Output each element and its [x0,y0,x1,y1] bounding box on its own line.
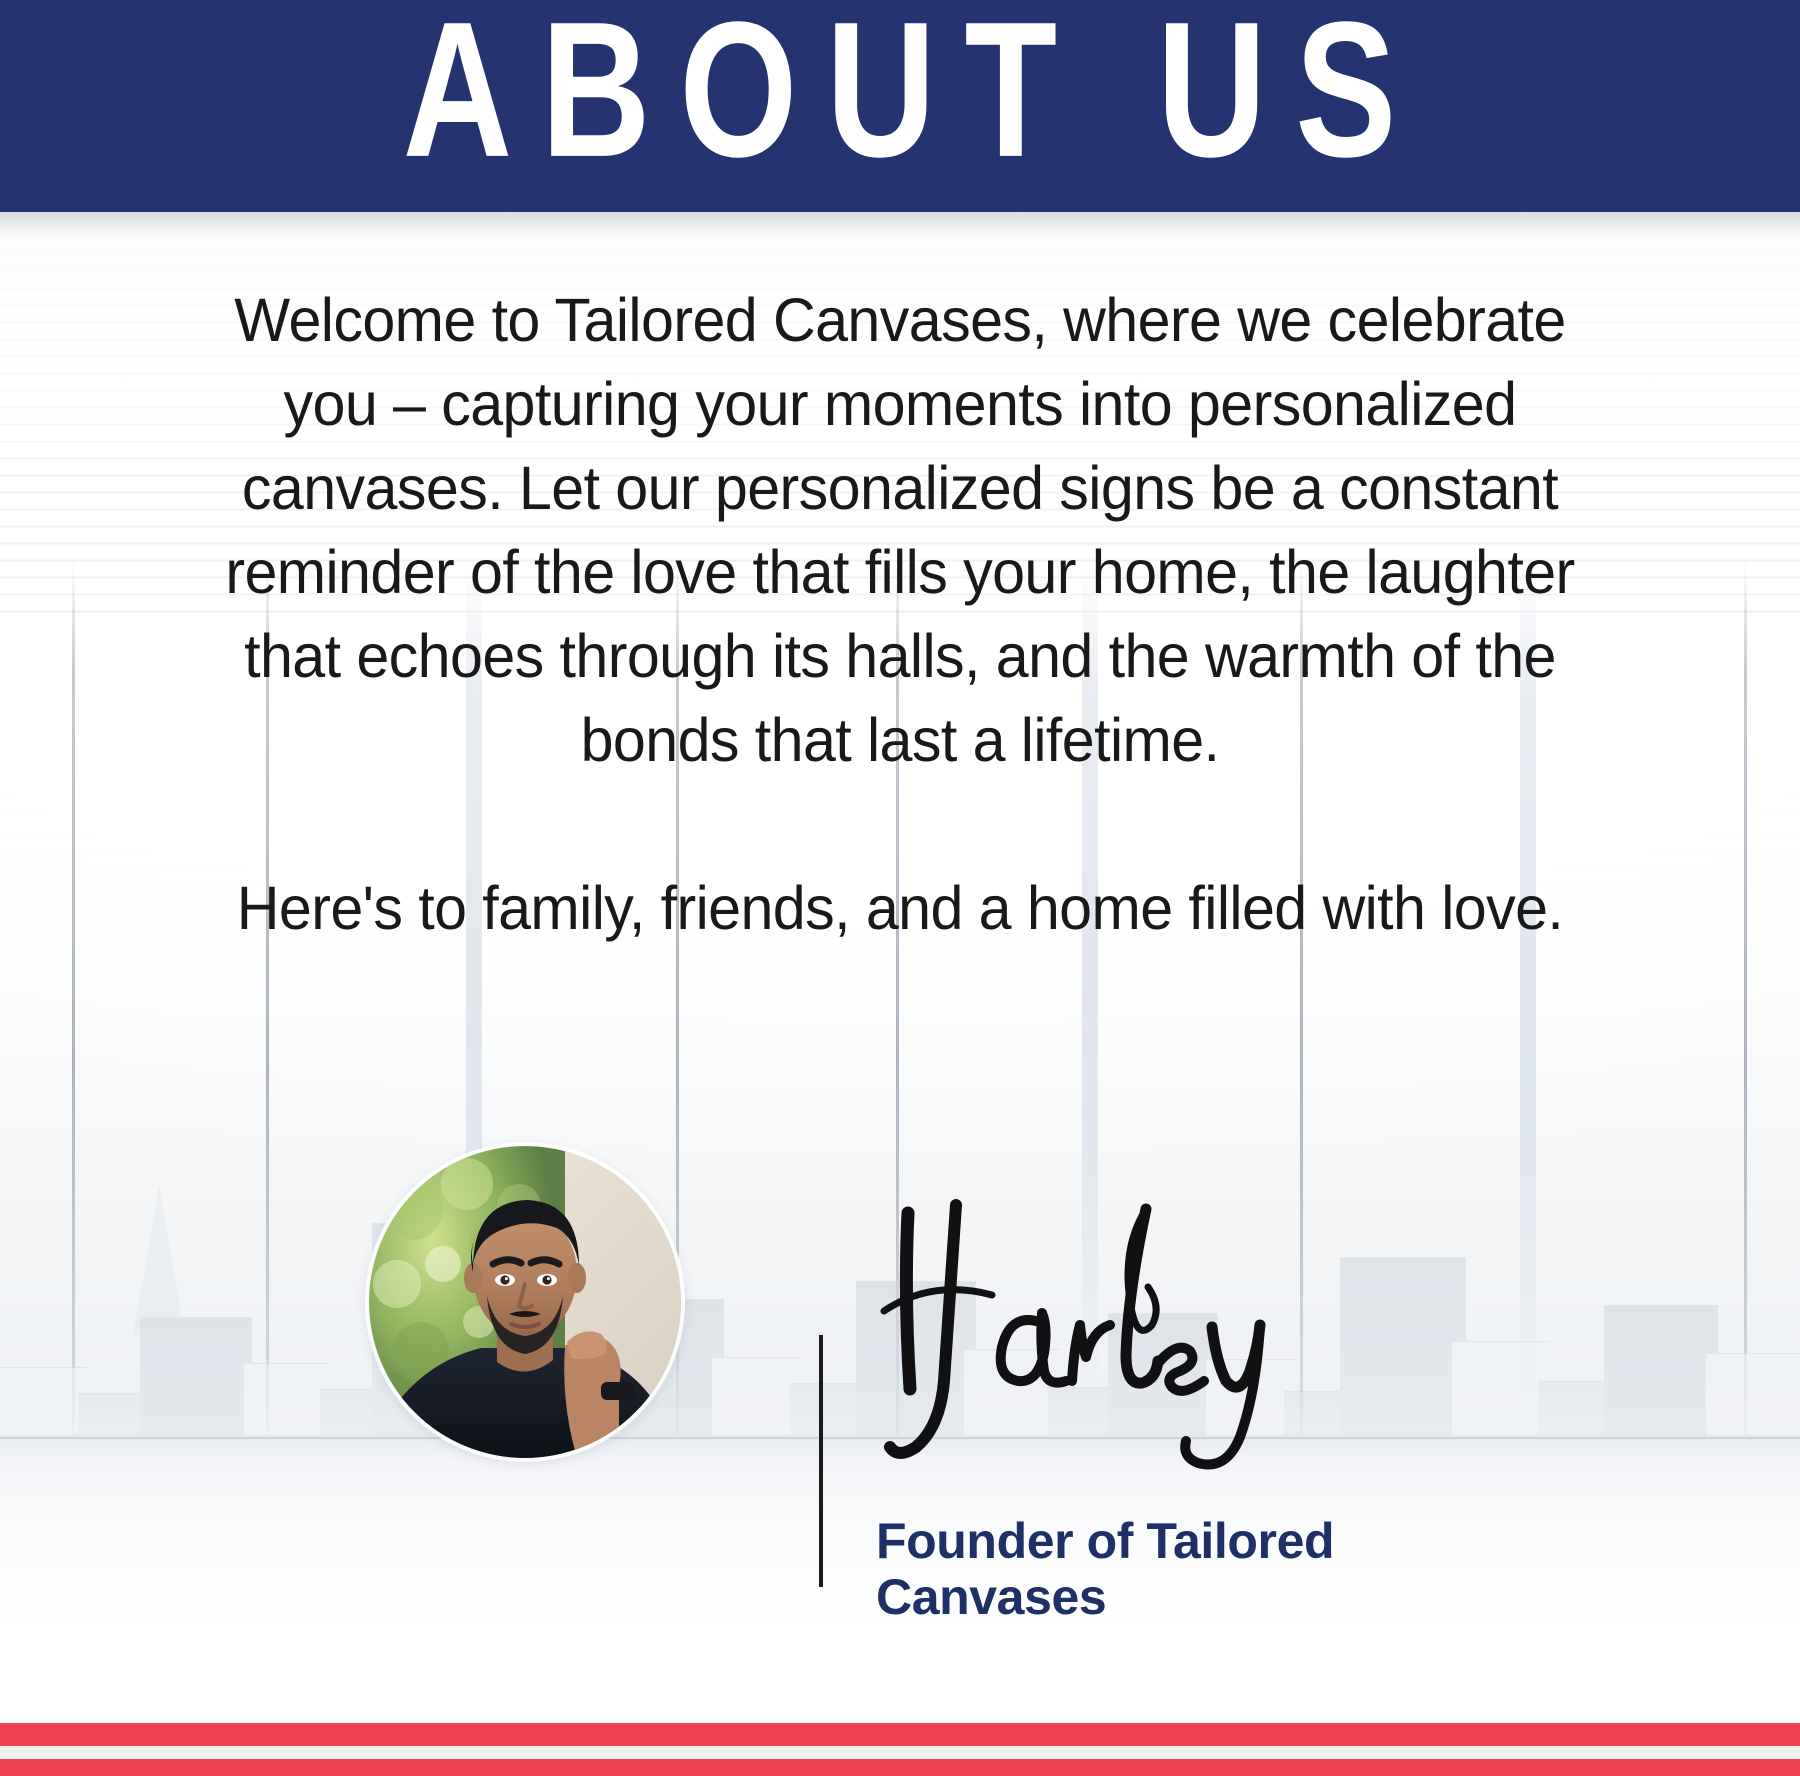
footer-stripe-bottom [0,1759,1800,1776]
footer-stripe-top [0,1723,1800,1746]
banner-drop-shadow [0,212,1800,238]
about-us-card: ABOUT US Welcome to Tailored Canvases, w… [0,0,1800,1776]
founder-title-line-1: Founder of Tailored [876,1513,1436,1569]
footer-stripe-gap [0,1746,1800,1759]
avatar [369,1146,681,1458]
paragraph-closing: Here's to family, friends, and a home fi… [217,866,1583,950]
transamerica-pyramid [133,1186,185,1336]
founder-signature: Harley [860,1175,1330,1475]
founder-title-line-2: Canvases [876,1569,1436,1625]
banner-underline [0,179,1800,212]
founder-title: Founder of Tailored Canvases [876,1513,1436,1625]
header-banner: ABOUT US [0,0,1800,179]
page-title: ABOUT US [374,0,1425,186]
about-us-body-copy: Welcome to Tailored Canvases, where we c… [217,278,1583,950]
signature-divider [819,1335,823,1587]
signature-script-icon [860,1175,1330,1475]
avatar-photo [369,1146,681,1458]
paragraph-intro: Welcome to Tailored Canvases, where we c… [217,278,1583,782]
